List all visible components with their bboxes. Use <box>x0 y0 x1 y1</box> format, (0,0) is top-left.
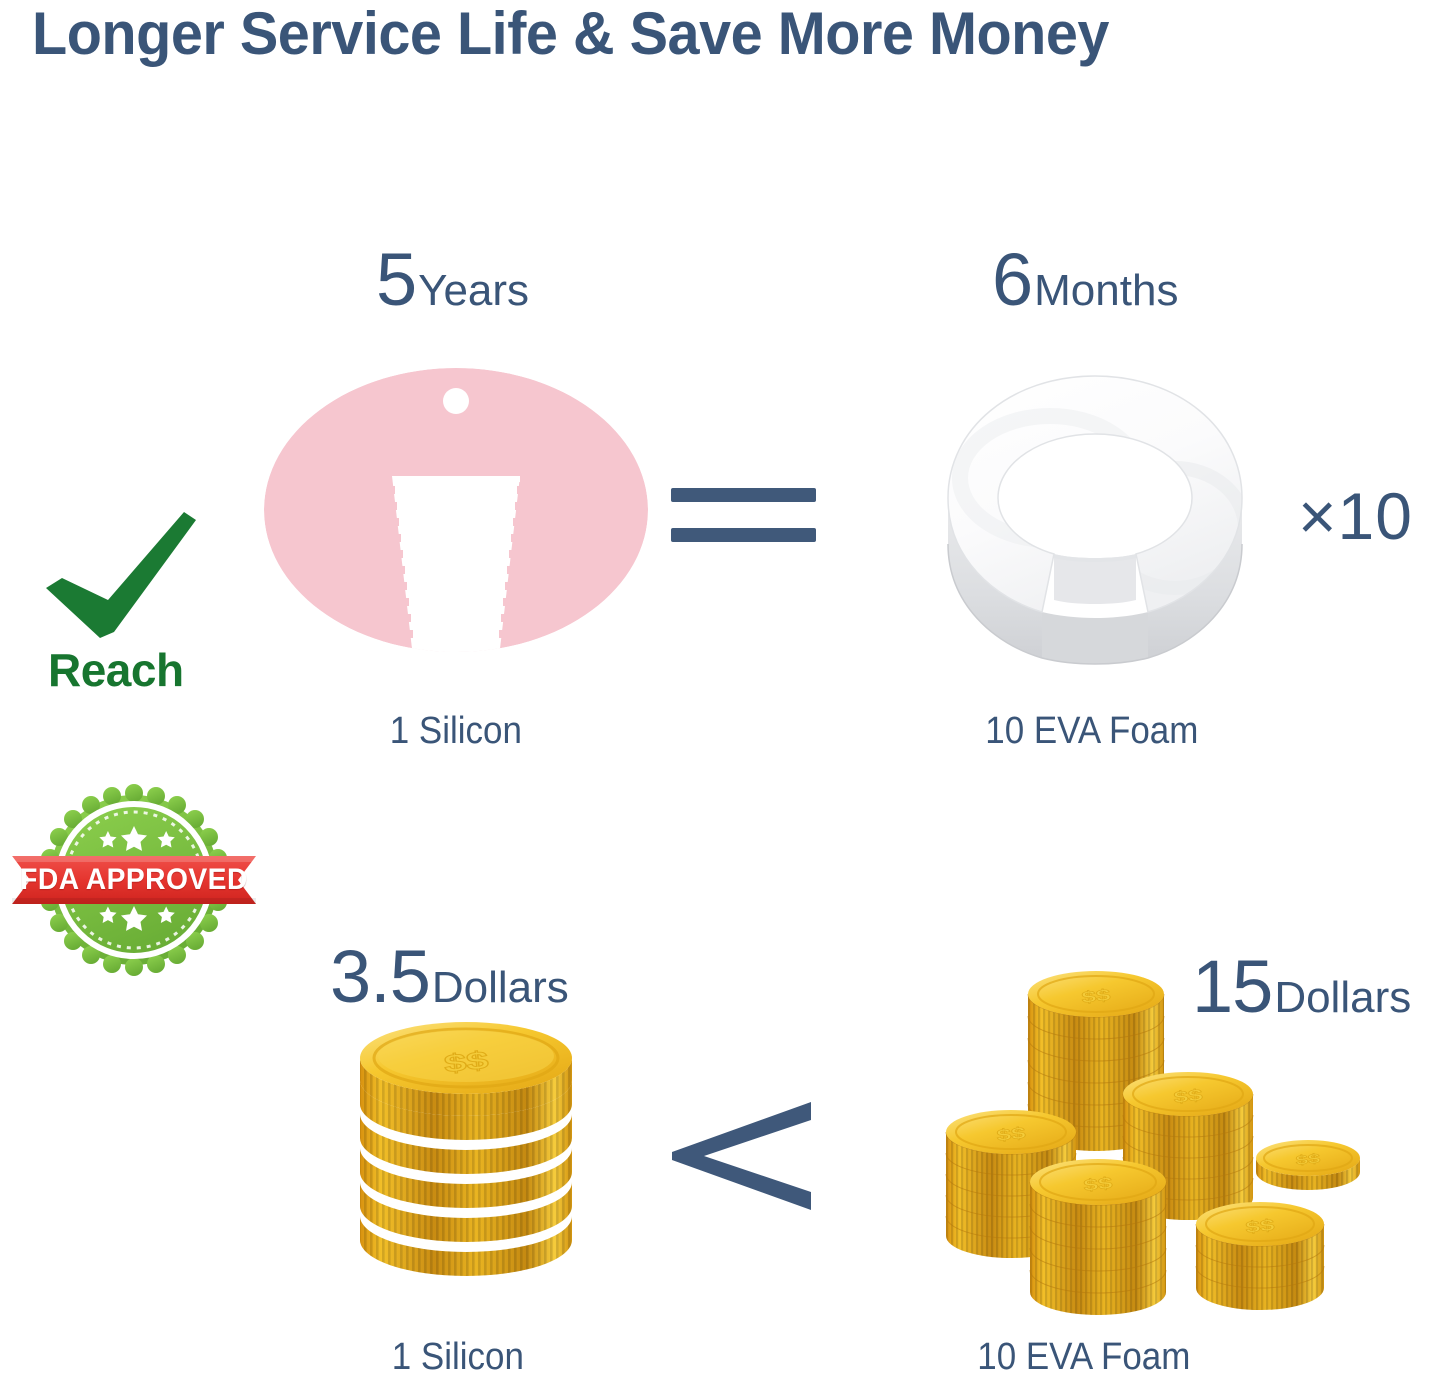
fda-approved-seal-icon <box>12 772 256 988</box>
cost-right-caption: 10 EVA Foam <box>977 1336 1190 1379</box>
less-than-sign <box>668 1098 813 1214</box>
svg-text:$$: $$ <box>996 1123 1027 1145</box>
pink-silicon-pad-icon <box>262 366 650 654</box>
svg-text:$$: $$ <box>1173 1085 1204 1107</box>
svg-text:$$: $$ <box>1245 1215 1276 1237</box>
cost-left-caption: 1 Silicon <box>392 1336 524 1379</box>
cost-left-unit: Dollars <box>432 963 569 1012</box>
green-check-icon <box>38 508 228 643</box>
cost-left-metric: 3.5Dollars <box>330 940 569 1014</box>
svg-text:$$: $$ <box>1083 1173 1114 1195</box>
cost-left-value: 3.5 <box>330 935 430 1018</box>
service-life-left-value: 5 <box>376 238 416 321</box>
reach-badge: Reach <box>38 508 228 708</box>
service-life-left-metric: 5Years <box>376 243 529 317</box>
reach-label: Reach <box>48 643 228 697</box>
service-life-right-caption: 10 EVA Foam <box>985 710 1198 753</box>
service-life-left-unit: Years <box>418 266 529 315</box>
svg-text:$$: $$ <box>443 1046 491 1078</box>
svg-text:$$: $$ <box>1295 1151 1321 1168</box>
page-title: Longer Service Life & Save More Money <box>32 0 1366 70</box>
service-life-right-unit: Months <box>1034 266 1178 315</box>
service-life-right-value: 6 <box>992 238 1032 321</box>
gold-coin-stacks-icon: $$ $$ <box>938 968 1338 1298</box>
fda-approved-badge: FDA APPROVED <box>12 772 256 988</box>
white-eva-foam-ring-icon <box>930 358 1260 658</box>
foam-multiplier: ×10 <box>1298 478 1413 554</box>
svg-text:$$: $$ <box>1081 985 1112 1007</box>
service-life-left-caption: 1 Silicon <box>390 710 522 753</box>
service-life-right-metric: 6Months <box>992 243 1178 317</box>
gold-coin-stack-icon: $$ <box>352 1030 580 1286</box>
equals-sign <box>671 488 816 544</box>
